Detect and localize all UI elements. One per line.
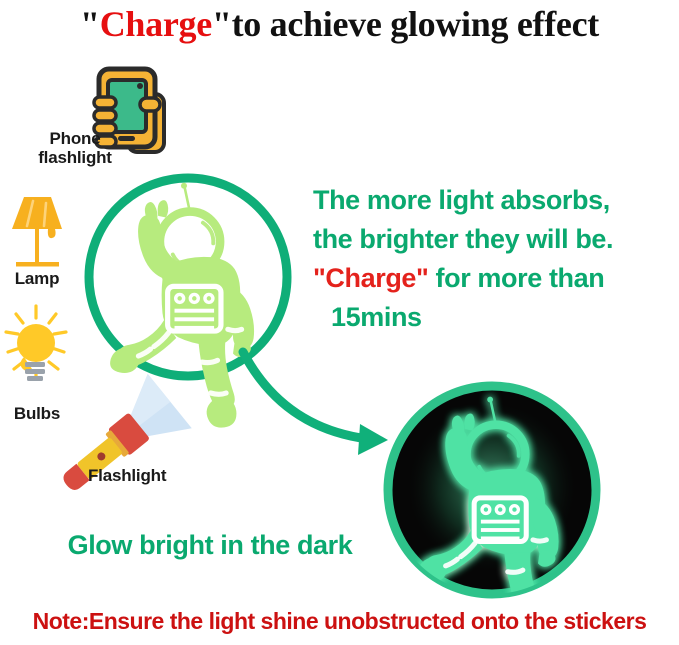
torch-flashlight-icon	[44, 374, 191, 512]
astronaut-sticker-glowing	[388, 386, 596, 636]
caption-note: Note:Ensure the light shine unobstructed…	[0, 608, 679, 635]
flow-arrow	[243, 352, 388, 455]
promo-quote-close: "	[416, 263, 428, 293]
infographic-canvas: "Charge"to achieve glowing effect	[0, 0, 679, 645]
caption-glow-in-dark: Glow bright in the dark	[0, 530, 420, 561]
label-phone-flashlight: Phone flashlight	[30, 129, 120, 167]
promo-line-4: 15mins	[313, 298, 679, 337]
promo-line-2: the brighter they will be.	[313, 220, 679, 259]
light-bulb-icon	[6, 306, 66, 381]
label-lamp: Lamp	[2, 269, 72, 288]
table-lamp-icon	[12, 197, 62, 267]
astronaut-sticker-daylight	[89, 178, 287, 428]
promo-line-1: The more light absorbs,	[313, 181, 679, 220]
label-flashlight: Flashlight	[88, 466, 208, 485]
promo-line-3: "Charge" for more than	[313, 259, 679, 298]
label-bulbs: Bulbs	[2, 404, 72, 423]
promo-text: The more light absorbs, the brighter the…	[313, 181, 679, 337]
promo-quote-open: "	[313, 263, 325, 293]
promo-line-3-rest: for more than	[428, 263, 604, 293]
promo-highlight: Charge	[325, 263, 416, 293]
promo-duration: 15mins	[313, 298, 422, 337]
